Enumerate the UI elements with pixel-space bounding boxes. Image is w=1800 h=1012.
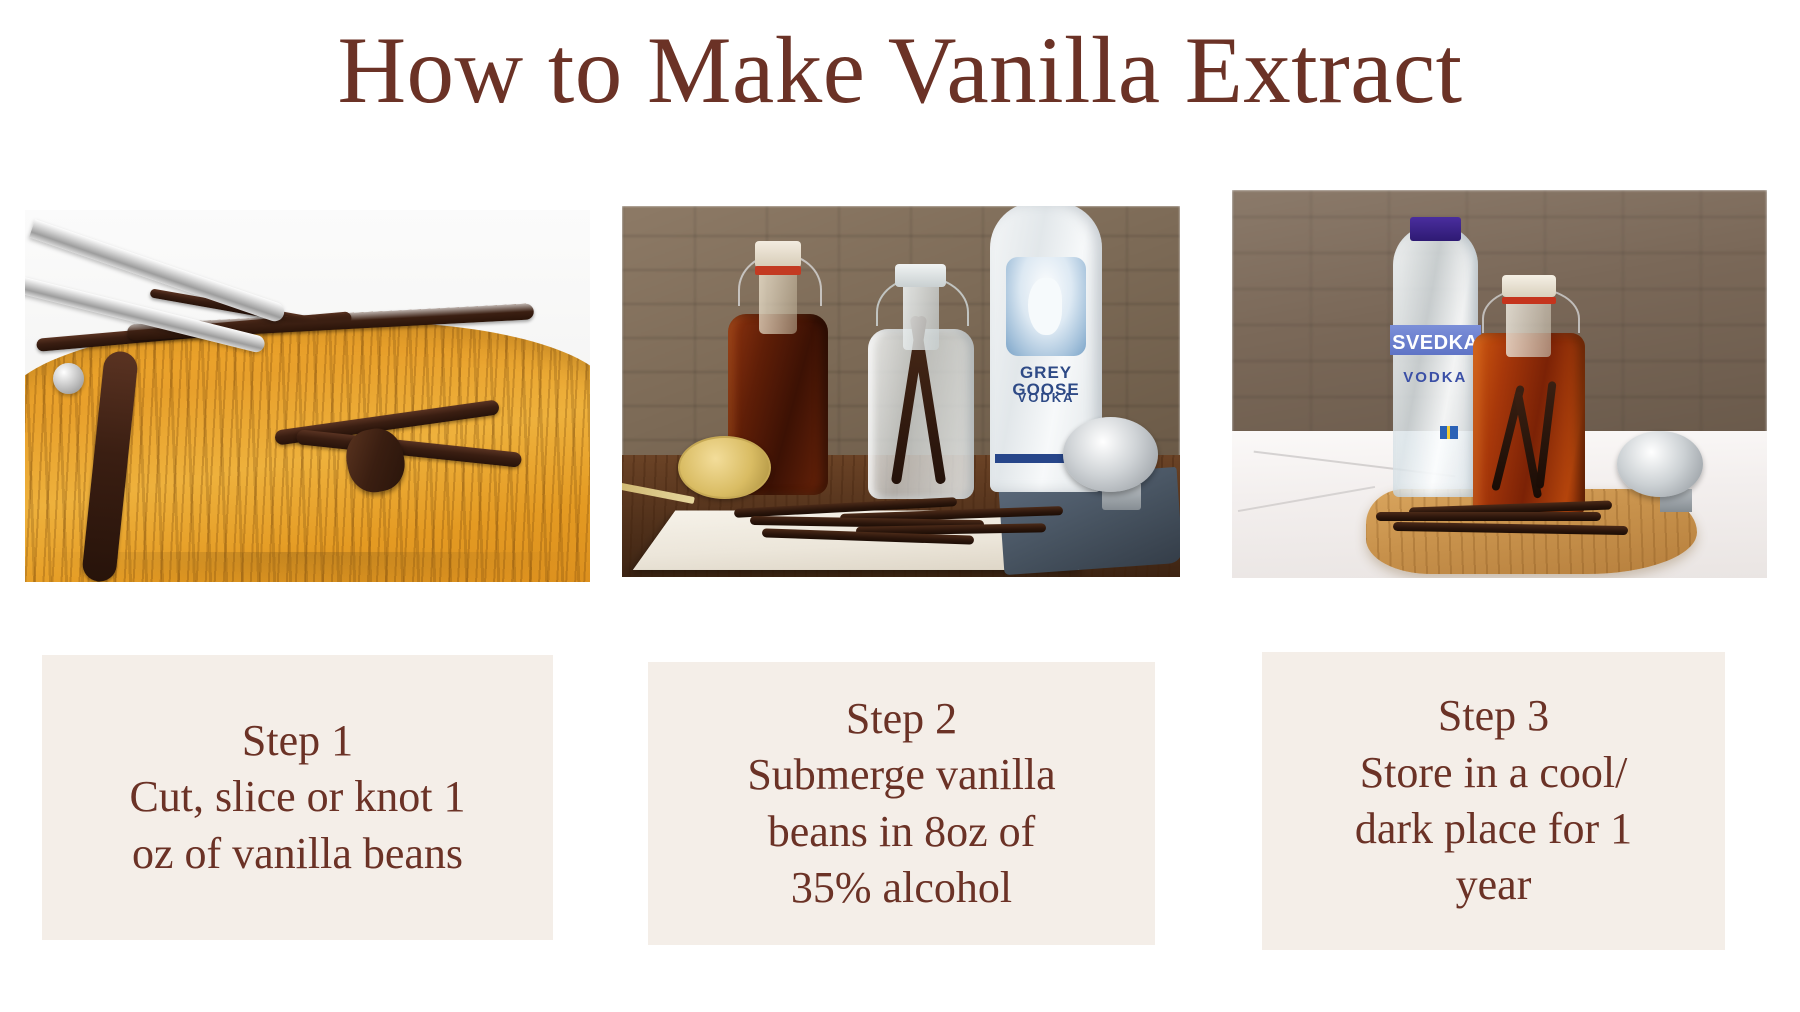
bottle-type-label: VODKA [997,390,1095,407]
bottle-body [1473,333,1585,516]
bottle-body [1393,225,1479,497]
loose-vanilla-bean [1376,512,1601,521]
metal-funnel [1617,431,1703,497]
bottle-brand-label: SVEDKA [1390,328,1481,355]
finished-vanilla-extract-bottle [1473,275,1585,516]
step-3-caption-card: Step 3 Store in a cool/ dark place for 1… [1262,652,1725,950]
bottle-cap [1502,275,1556,297]
cap-gasket [1502,297,1556,304]
vanilla-beans-scissors-scene [25,210,590,582]
step-1-photo [25,210,590,582]
step-1-caption-card: Step 1 Cut, slice or knot 1 oz of vanill… [42,655,553,940]
mesh-strainer [678,436,771,499]
clear-swingtop-bottle [868,269,974,499]
finished-extract-scene: SVEDKA VODKA [1232,190,1767,578]
page-title: How to Make Vanilla Extract [0,18,1800,123]
metal-funnel [1063,417,1158,491]
bottle-type-label: VODKA [1393,369,1479,388]
board-shadow [36,552,578,582]
step-1-caption-text: Step 1 Cut, slice or knot 1 oz of vanill… [42,713,553,882]
bottle-brand-label: GREY GOOSE [997,364,1095,384]
step-2-photo: GREY GOOSE VODKA [622,206,1180,577]
bottle-cap [755,241,801,269]
step-3-photo: SVEDKA VODKA [1232,190,1767,578]
bottle-cap [1410,217,1461,241]
step-2-caption-card: Step 2 Submerge vanilla beans in 8oz of … [648,662,1155,945]
cap-gasket [755,266,801,275]
step-2-caption-text: Step 2 Submerge vanilla beans in 8oz of … [648,691,1155,916]
bottle-cap [895,264,946,287]
step-3-caption-text: Step 3 Store in a cool/ dark place for 1… [1262,688,1725,913]
goose-silhouette [1028,278,1061,336]
svedka-vodka-bottle: SVEDKA VODKA [1393,225,1479,497]
bottles-vodka-beans-scene: GREY GOOSE VODKA [622,206,1180,577]
swedish-flag-icon [1440,426,1457,440]
